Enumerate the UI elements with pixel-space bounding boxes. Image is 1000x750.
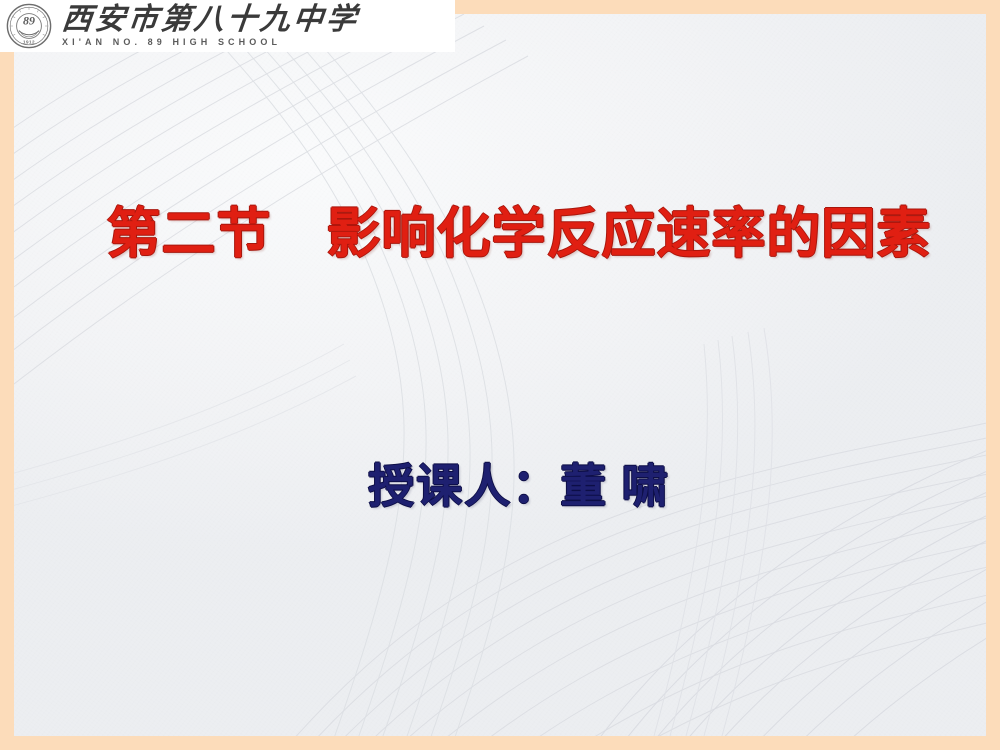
slide-canvas: 第二节 影响化学反应速率的因素 授课人：董 啸 xyxy=(14,14,986,736)
seal-year-text: 1912 xyxy=(23,39,35,44)
paper-texture-overlay xyxy=(14,14,986,736)
swirl-group-upper-ribbon xyxy=(134,14,514,736)
school-logo-banner: 89 1912 西安市第八十九中学 XI'AN NO. 89 HIGH SCHO… xyxy=(0,0,455,52)
school-name-block: 西安市第八十九中学 XI'AN NO. 89 HIGH SCHOOL xyxy=(62,5,359,47)
slide-title-text: 第二节 影响化学反应速率的因素 xyxy=(104,204,934,266)
swirl-group-right-strands xyxy=(654,328,772,736)
background-swirl-decoration xyxy=(14,14,986,736)
slide-presenter: 授课人：董 啸 xyxy=(104,462,934,513)
slide-presenter-text: 授课人：董 啸 xyxy=(104,462,934,513)
seal-number-text: 89 xyxy=(23,14,35,28)
school-name-cn: 西安市第八十九中学 xyxy=(60,5,360,35)
slide-title: 第二节 影响化学反应速率的因素 xyxy=(104,204,934,266)
school-seal-icon: 89 1912 xyxy=(6,3,52,49)
swirl-group-bottom-right-arcs xyxy=(264,394,986,736)
school-name-en: XI'AN NO. 89 HIGH SCHOOL xyxy=(62,38,359,47)
swirl-group-bottom-right-counter-arcs xyxy=(574,374,986,736)
swirl-lines-svg xyxy=(14,14,986,736)
presentation-slide: 第二节 影响化学反应速率的因素 授课人：董 啸 89 1912 xyxy=(0,0,1000,750)
